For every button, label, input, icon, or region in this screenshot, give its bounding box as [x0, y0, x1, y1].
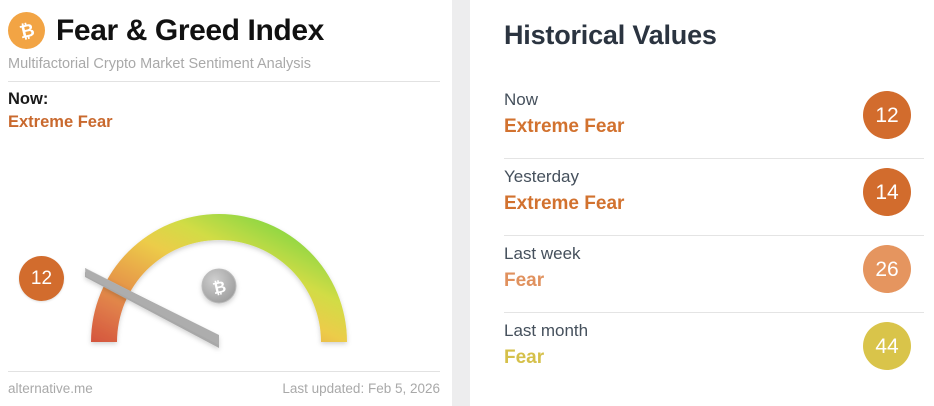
source-link[interactable]: alternative.me [8, 381, 93, 396]
panel-divider [452, 0, 470, 406]
historical-values-list: Now Extreme Fear 12 Yesterday Extreme Fe… [504, 82, 924, 390]
history-sentiment-value: Extreme Fear [504, 116, 624, 138]
history-period-label: Now [504, 90, 538, 110]
history-score-badge: 14 [863, 168, 911, 216]
history-score-badge: 26 [863, 245, 911, 293]
history-period-label: Yesterday [504, 167, 579, 187]
page-subtitle: Multifactorial Crypto Market Sentiment A… [8, 56, 311, 72]
history-sentiment-value: Fear [504, 347, 544, 369]
history-score-badge: 12 [863, 91, 911, 139]
list-item: Last week Fear 26 [504, 236, 924, 313]
history-sentiment-value: Extreme Fear [504, 193, 624, 215]
gauge-value-badge: 12 [19, 256, 64, 301]
last-updated-text: Last updated: Feb 5, 2026 [282, 381, 440, 396]
panel-header: ₿ Fear & Greed Index [8, 12, 324, 49]
bitcoin-icon: ₿ [8, 12, 45, 49]
history-score-badge: 44 [863, 322, 911, 370]
now-sentiment-value: Extreme Fear [8, 113, 113, 132]
footer-divider [8, 371, 440, 372]
sentiment-gauge: ₿ 12 [0, 138, 452, 360]
history-period-label: Last week [504, 244, 581, 264]
svg-text:₿: ₿ [17, 19, 36, 42]
history-sentiment-value: Fear [504, 270, 544, 292]
now-label: Now: [8, 90, 48, 109]
page-title: Fear & Greed Index [56, 16, 324, 46]
historical-values-title: Historical Values [504, 20, 717, 51]
history-period-label: Last month [504, 321, 588, 341]
list-item: Yesterday Extreme Fear 14 [504, 159, 924, 236]
header-divider [8, 81, 440, 82]
list-item: Now Extreme Fear 12 [504, 82, 924, 159]
list-item: Last month Fear 44 [504, 313, 924, 390]
gauge-panel: ₿ Fear & Greed Index Multifactorial Cryp… [0, 0, 452, 406]
historical-values-panel: Historical Values Now Extreme Fear 12 Ye… [470, 0, 934, 406]
fear-greed-widget: ₿ Fear & Greed Index Multifactorial Cryp… [0, 0, 934, 406]
